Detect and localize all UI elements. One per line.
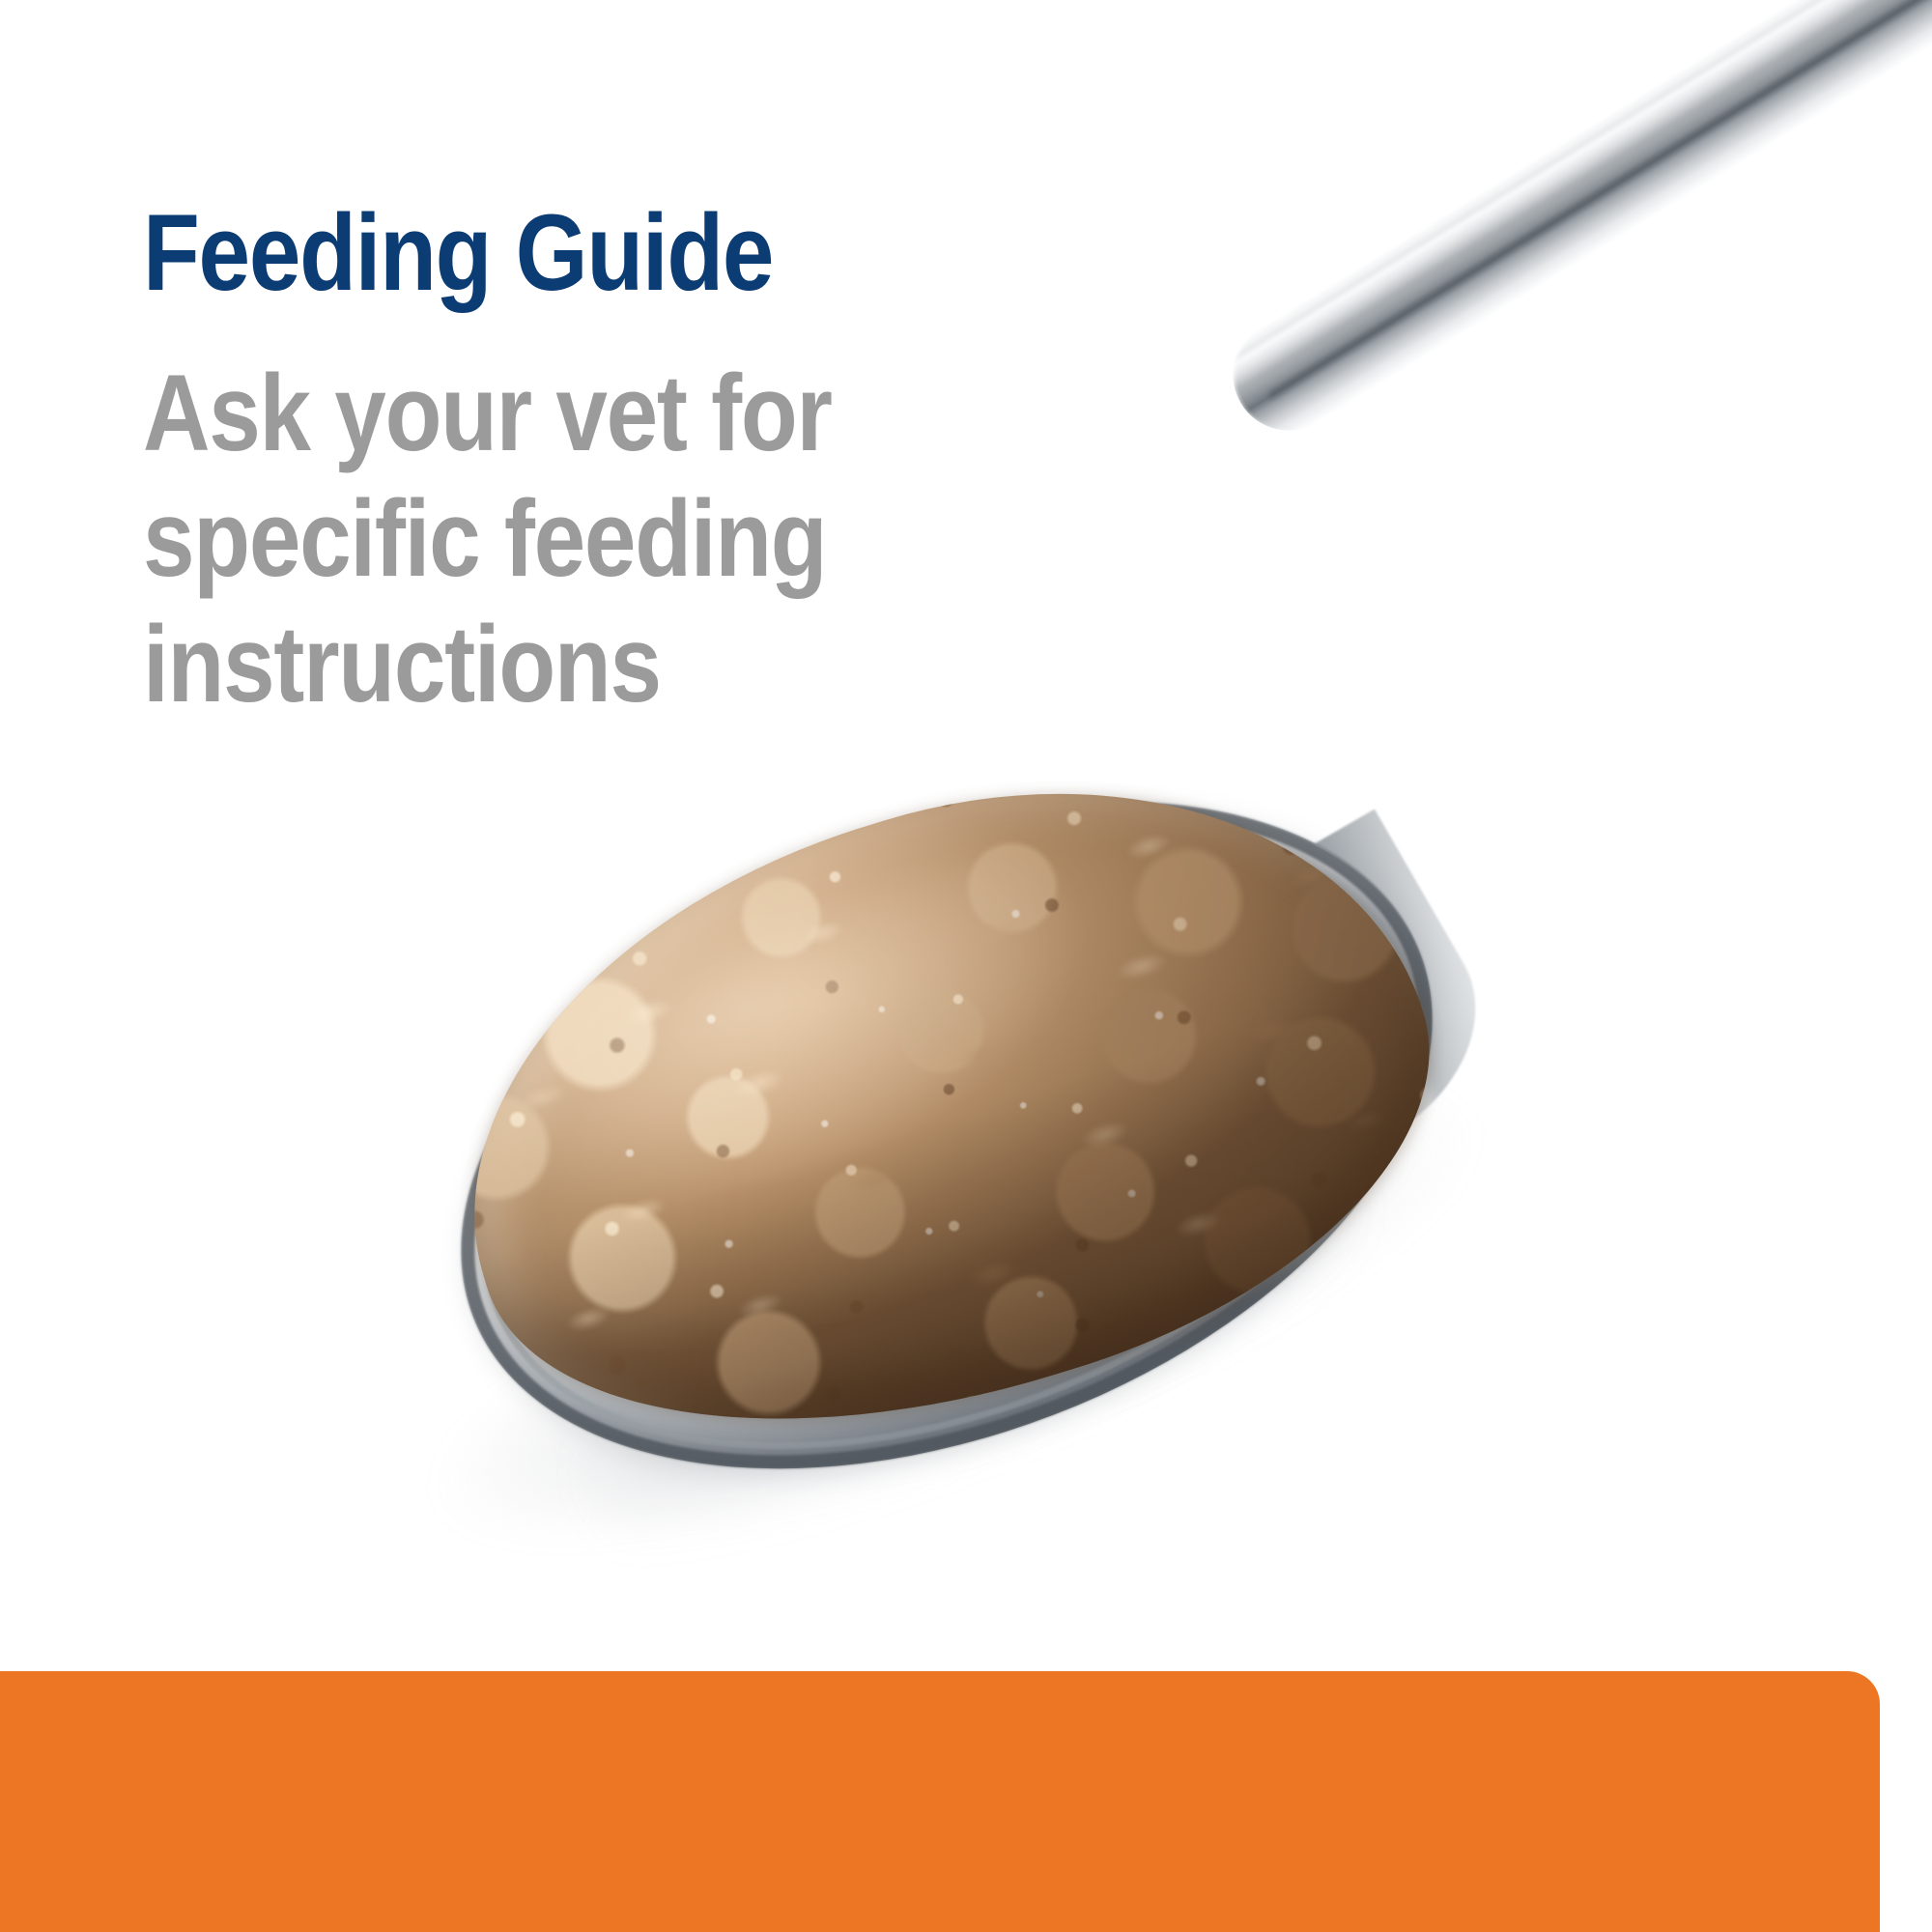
subtitle-line-3: instructions <box>143 602 1256 727</box>
spoon-handle <box>1212 0 1932 451</box>
page-title: Feeding Guide <box>143 198 1123 308</box>
spoon-handle-shadow-line <box>1266 0 1932 403</box>
food-mound <box>390 686 1492 1525</box>
headline-block: Feeding Guide Ask your vet for specific … <box>143 198 1283 727</box>
page-subtitle: Ask your vet for specific feeding instru… <box>143 351 1256 727</box>
subtitle-line-2: specific feeding <box>143 476 1256 602</box>
orange-footer-band <box>0 1671 1880 1932</box>
page-canvas: Feeding Guide Ask your vet for specific … <box>0 0 1932 1932</box>
food-volume-shading <box>390 686 1492 1525</box>
subtitle-line-1: Ask your vet for <box>143 351 1256 476</box>
